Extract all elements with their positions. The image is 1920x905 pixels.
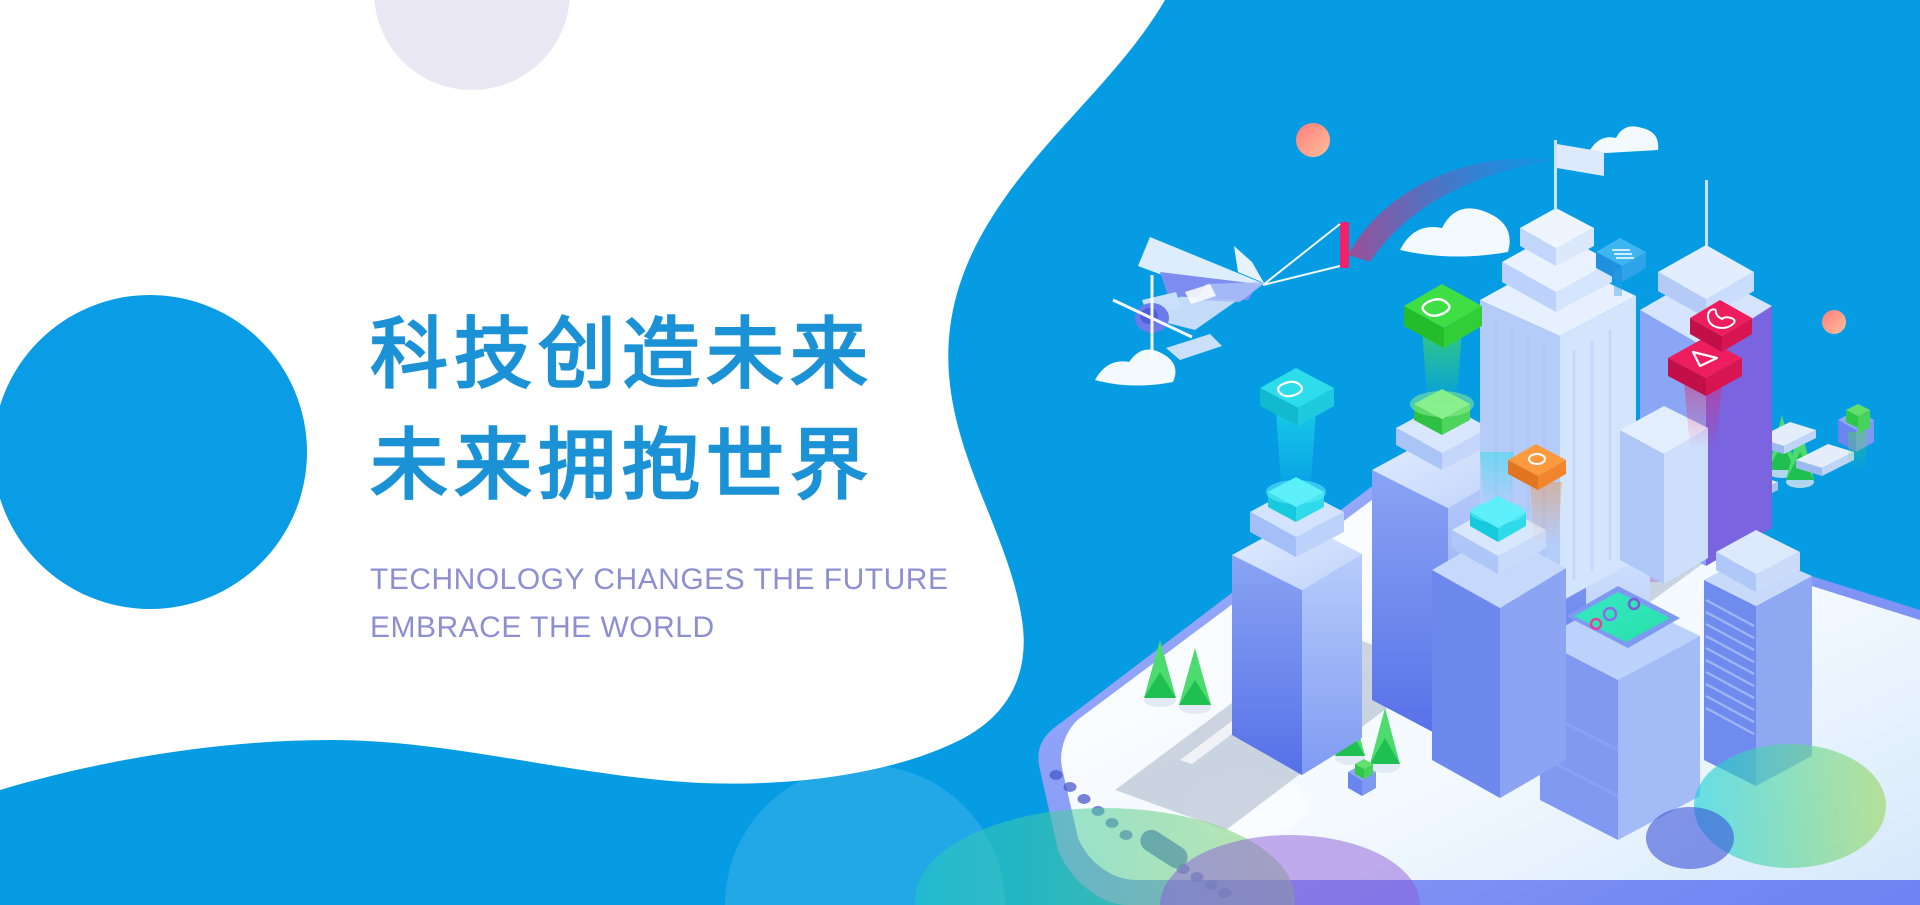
- subtitle-line-1: TECHNOLOGY CHANGES THE FUTURE: [370, 556, 1070, 605]
- headline-line-1: 科技创造未来: [370, 300, 1070, 411]
- hero-banner: 科技创造未来 未来拥抱世界 TECHNOLOGY CHANGES THE FUT…: [0, 0, 1920, 905]
- subtitle-line-2: EMBRACE THE WORLD: [370, 604, 1070, 653]
- lavender-circle-top: [374, 0, 570, 90]
- headline-text-block: 科技创造未来 未来拥抱世界 TECHNOLOGY CHANGES THE FUT…: [370, 300, 1070, 653]
- subtitle-block: TECHNOLOGY CHANGES THE FUTURE EMBRACE TH…: [370, 556, 1070, 653]
- headline-line-2: 未来拥抱世界: [370, 411, 1070, 522]
- indigo-ellipse: [1646, 807, 1734, 869]
- accent-circle-left: [0, 295, 307, 609]
